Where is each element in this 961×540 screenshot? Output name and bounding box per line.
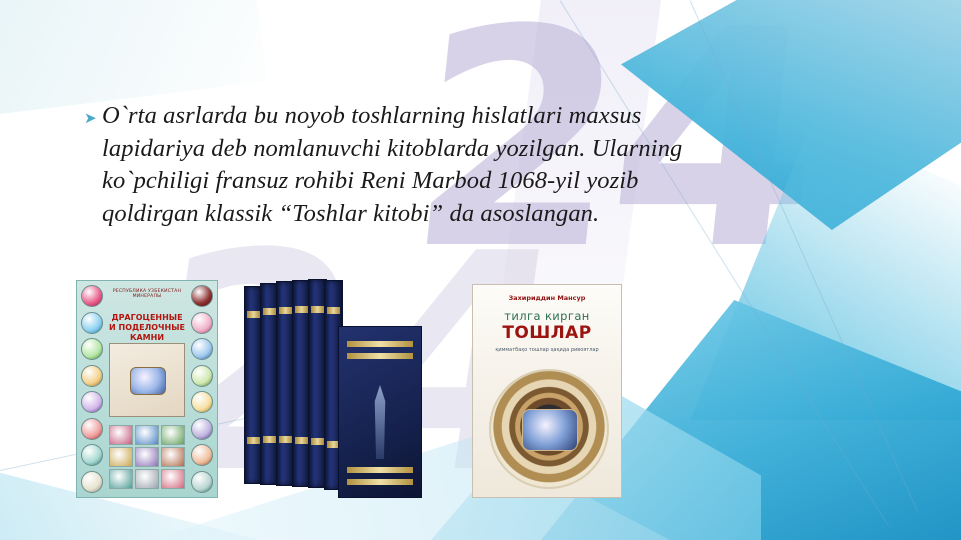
book3-title-line1: тилга кирган (473, 309, 621, 323)
tower-illustration (369, 385, 391, 459)
book1-caption-sub: МИНЕРАЛЫ (107, 294, 187, 299)
bullet-triangle-icon: ➤ (84, 111, 102, 126)
bullet-paragraph: ➤ O`rta asrlarda bu noyob toshlarning hi… (84, 100, 724, 230)
book3-subtitle: қимматбаҳо тошлар ҳақида ривоятлар (491, 347, 603, 353)
medallion-gem (522, 409, 578, 451)
book1-title-area: РЕСПУБЛИКА УЗБЕКИСТАН МИНЕРАЛЫ ДРАГОЦЕНН… (107, 289, 187, 343)
book-front-cover (338, 326, 422, 498)
medallion-illustration (489, 369, 609, 489)
presentation-slide: 24 24 ➤ O`rta asrlarda bu noyob toshlarn… (0, 0, 961, 540)
body-text: O`rta asrlarda bu noyob toshlarning hisl… (102, 100, 724, 230)
book1-gem-grid (109, 425, 185, 489)
book1-center-illustration (109, 343, 185, 417)
image-group: РЕСПУБЛИКА УЗБЕКИСТАН МИНЕРАЛЫ ДРАГОЦЕНН… (76, 278, 636, 500)
slide-content: ➤ O`rta asrlarda bu noyob toshlarning hi… (0, 0, 961, 540)
book2-front-text: GREAT BOOKS OF THE WESTERN WORLD (244, 278, 245, 279)
gem-strip-right (191, 285, 213, 493)
book-stack-navy-image: GREAT BOOKS OF THE WESTERN WORLD ENCYCLO… (244, 278, 424, 500)
gem-strip-left (81, 285, 103, 493)
book3-title-line2: ТОШЛАР (473, 323, 621, 343)
gem-illustration (130, 367, 166, 395)
book-cover-toshlar-image: Захириддин Мансур тилга кирган ТОШЛАР қи… (472, 284, 622, 498)
book2-spine-text: ENCYCLOPEDIA (244, 278, 245, 279)
book1-title: ДРАГОЦЕННЫЕ И ПОДЕЛОЧНЫЕ КАМНИ (107, 313, 187, 343)
book3-author: Захириддин Мансур (473, 294, 621, 302)
book-cover-lapidary-image: РЕСПУБЛИКА УЗБЕКИСТАН МИНЕРАЛЫ ДРАГОЦЕНН… (76, 280, 218, 498)
